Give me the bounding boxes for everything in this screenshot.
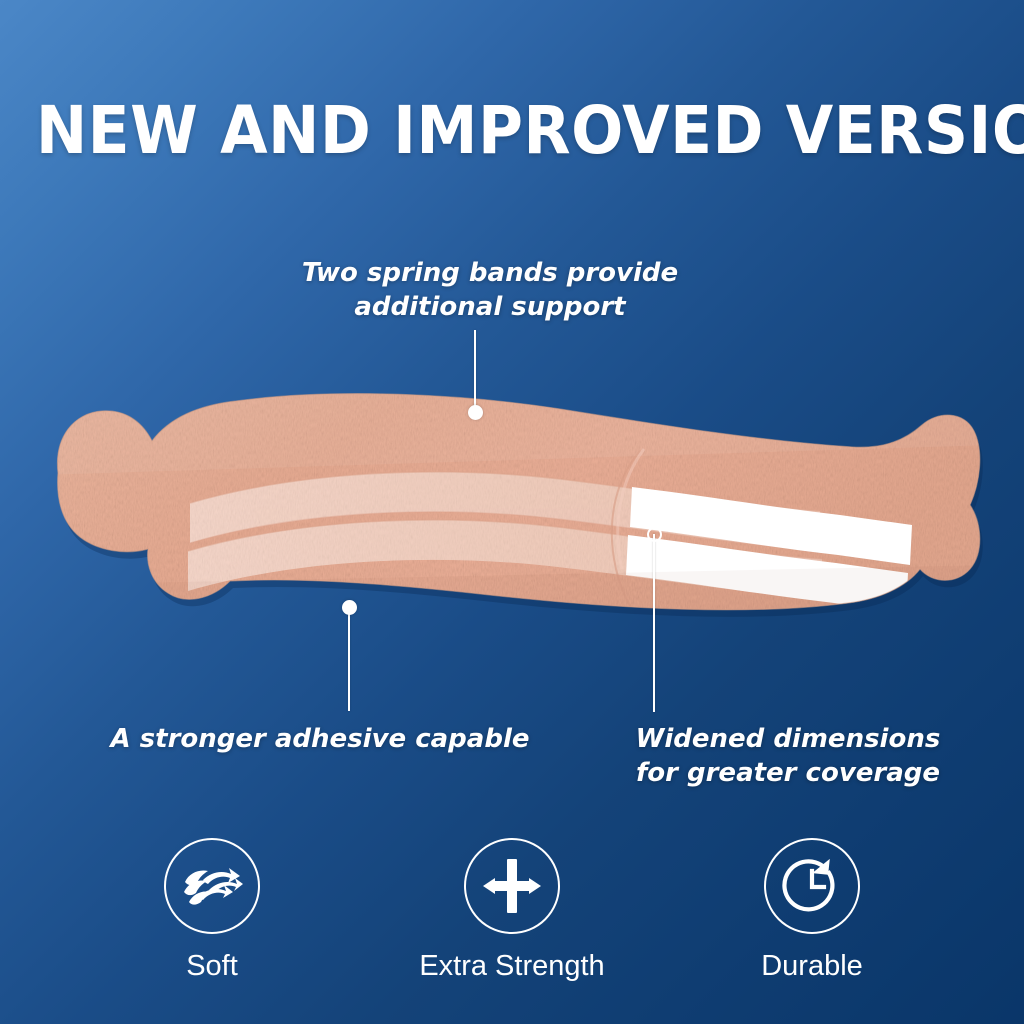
marker-ring-dimensions	[647, 527, 662, 542]
callout-spring-bands-line2: additional support	[0, 290, 1002, 324]
feature-soft-label: Soft	[186, 952, 238, 981]
callout-dimensions: Widened dimensions for greater coverage	[532, 722, 1024, 791]
feature-durable-label: Durable	[761, 952, 863, 981]
marker-dot-adhesive	[342, 600, 357, 615]
feature-extra-strength-circle	[464, 838, 560, 934]
extra-strength-arrows-icon	[481, 855, 543, 917]
feature-extra-strength: Extra Strength	[417, 838, 607, 981]
callout-spring-bands-line1: Two spring bands provide	[0, 256, 1002, 290]
feature-soft-circle	[164, 838, 260, 934]
feature-list: Soft	[0, 838, 1024, 981]
leader-line-adhesive	[348, 607, 350, 711]
durable-clock-icon	[781, 855, 843, 917]
leader-line-spring-bands	[474, 330, 476, 412]
callout-dimensions-line2: for greater coverage	[532, 756, 1024, 790]
page-title: NEW AND IMPROVED VERSION	[36, 98, 988, 164]
feature-soft: Soft	[117, 838, 307, 981]
marker-dot-spring-bands	[468, 405, 483, 420]
callout-spring-bands: Two spring bands provide additional supp…	[0, 256, 1002, 325]
leader-line-dimensions	[653, 534, 655, 712]
product-image-nasal-strip	[40, 355, 990, 660]
promo-banner: NEW AND IMPROVED VERSION	[0, 0, 1024, 1024]
feature-durable: Durable	[717, 838, 907, 981]
feature-durable-circle	[764, 838, 860, 934]
soft-waves-icon	[181, 862, 243, 910]
feature-extra-strength-label: Extra Strength	[419, 952, 604, 981]
callout-dimensions-line1: Widened dimensions	[532, 722, 1024, 756]
